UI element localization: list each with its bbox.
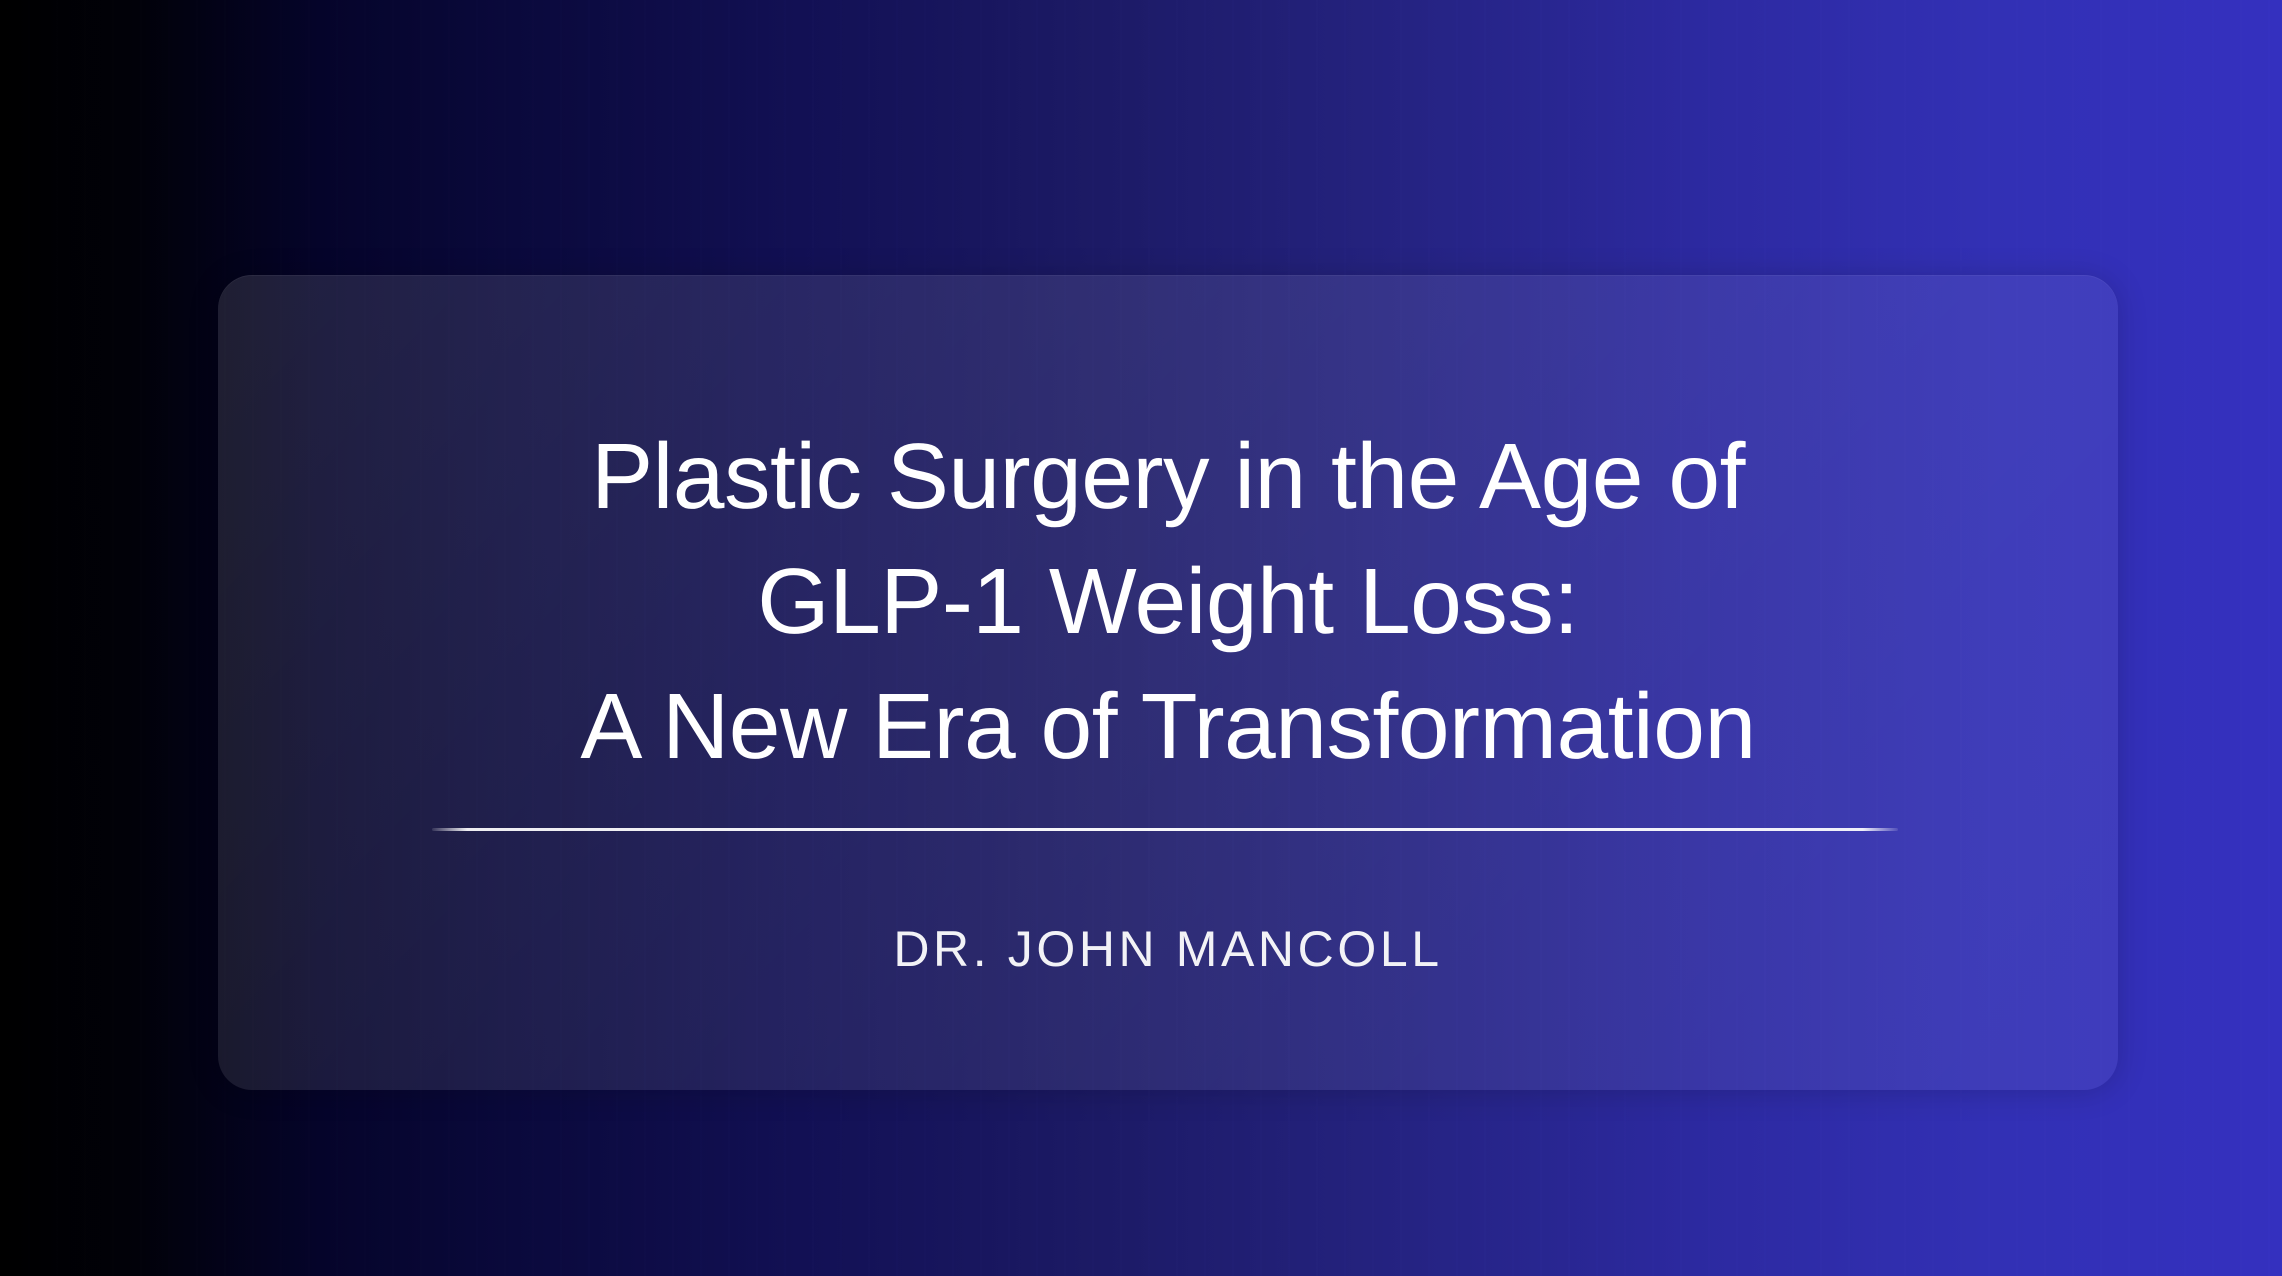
title-card: Plastic Surgery in the Age of GLP-1 Weig… bbox=[218, 275, 2118, 1090]
author-name: DR. JOHN MANCOLL bbox=[218, 920, 2118, 978]
title-divider bbox=[432, 828, 1898, 831]
presentation-slide: Plastic Surgery in the Age of GLP-1 Weig… bbox=[0, 0, 2282, 1276]
title-card-content: Plastic Surgery in the Age of GLP-1 Weig… bbox=[218, 275, 2118, 1090]
page-title: Plastic Surgery in the Age of GLP-1 Weig… bbox=[218, 275, 2118, 789]
